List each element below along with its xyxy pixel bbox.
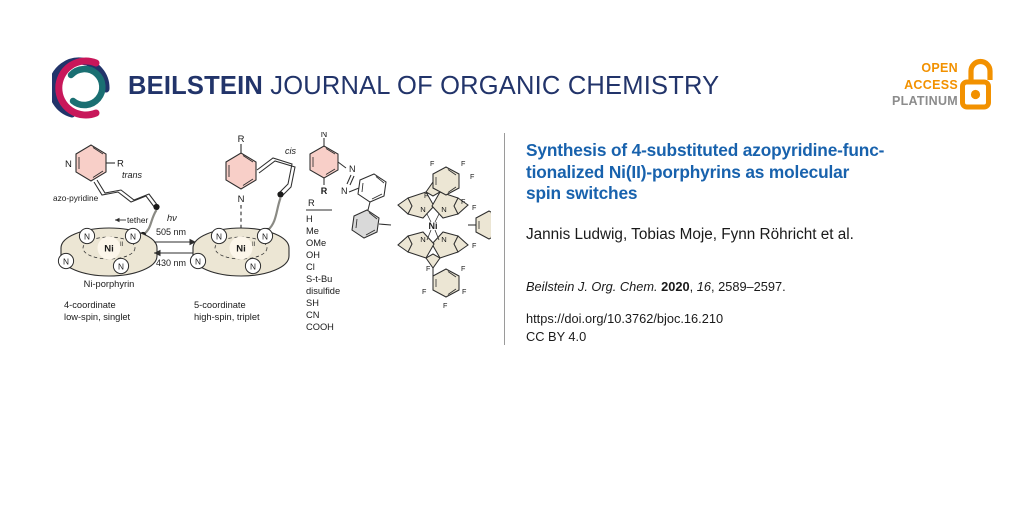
f-label-bottom-4: F	[462, 287, 467, 296]
journal-wordmark-light: JOURNAL OF ORGANIC CHEMISTRY	[263, 72, 719, 100]
porphyrin-n-1: N	[420, 205, 425, 214]
article-license: CC BY 4.0	[526, 328, 988, 346]
scheme-photoswitch-arrows: hν 505 nm 430 nm	[154, 213, 196, 268]
trans-caption-line-2: low-spin, singlet	[64, 312, 131, 322]
cis-caption-line-2: high-spin, triplet	[194, 312, 260, 322]
molecule-porphyrin-core: N N N N Ni	[398, 182, 468, 268]
trans-metal-charge: II	[120, 242, 124, 248]
graphical-abstract: N R trans azo-pyridine tether Ni II	[36, 132, 491, 347]
article-doi-link[interactable]: https://doi.org/10.3762/bjoc.16.210	[526, 310, 988, 328]
scheme-left-structure: N R trans azo-pyridine tether Ni II	[53, 145, 160, 322]
r-group-item-3: OMe	[306, 238, 326, 248]
molecule-pyridine-n-label: N	[321, 132, 328, 139]
cis-porphyrin-n-4: N	[250, 262, 256, 272]
r-group-item-6: S-t-Bu	[306, 274, 332, 284]
cis-ring-r-label: R	[238, 134, 245, 145]
f-label-top-1: F	[430, 159, 435, 168]
f-label-right-3: F	[472, 241, 477, 250]
r-group-item-1: H	[306, 214, 313, 224]
molecule-azo-linkage: N N	[338, 162, 359, 196]
article-citation: Beilstein J. Org. Chem. 2020, 16, 2589–2…	[526, 278, 988, 295]
reverse-wavelength-label: 430 nm	[156, 258, 186, 268]
journal-wordmark: BEILSTEIN JOURNAL OF ORGANIC CHEMISTRY	[128, 70, 719, 102]
cis-metal-label: Ni	[236, 244, 246, 255]
cis-caption-line-1: 5-coordinate	[194, 300, 246, 310]
r-group-item-8: SH	[306, 298, 319, 308]
f-label-top-4: F	[461, 197, 466, 206]
cis-porphyrin-n-2: N	[262, 232, 268, 242]
citation-volume: 16	[697, 279, 711, 294]
scheme-right-structure: R N cis Ni II N N N N	[190, 134, 296, 322]
journal-header: BEILSTEIN JOURNAL OF ORGANIC CHEMISTRY O…	[0, 0, 1024, 128]
trans-azo-chain: trans azo-pyridine	[53, 170, 160, 210]
f-label-bottom-5: F	[443, 301, 448, 310]
f-label-bottom-3: F	[422, 287, 427, 296]
trans-porphyrin-n-2: N	[130, 232, 136, 242]
trans-ring-n-label: N	[65, 159, 72, 170]
molecule-metal-label: Ni	[429, 221, 438, 231]
trans-ring-r-label: R	[117, 159, 124, 170]
trans-porphyrin-n-1: N	[84, 232, 90, 242]
article-title-line-3: spin switches	[526, 183, 637, 203]
porphyrin-n-4: N	[420, 235, 425, 244]
cis-pyridine-ring: R N	[226, 134, 256, 205]
journal-wordmark-bold: BEILSTEIN	[128, 72, 263, 100]
porphyrin-n-3: N	[441, 235, 446, 244]
molecule-phenyl-linker	[352, 174, 391, 238]
citation-year: 2020	[661, 279, 689, 294]
r-group-item-4: OH	[306, 250, 320, 260]
f-label-bottom-2: F	[461, 264, 466, 273]
trans-porphyrin-n-3: N	[63, 257, 69, 267]
cis-porphyrin-n-3: N	[195, 257, 201, 267]
tether-label: tether	[127, 215, 148, 225]
citation-pages: 2589–2597.	[718, 279, 786, 294]
trans-metal-label: Ni	[104, 244, 114, 255]
f-label-top-5: F	[424, 191, 429, 200]
r-group-item-10: COOH	[306, 322, 334, 332]
r-group-item-9: CN	[306, 310, 319, 320]
pentafluorophenyl-bottom: F F F F F	[422, 264, 467, 310]
trans-porphyrin-platform: Ni II N N N N	[58, 228, 157, 276]
molecule-pyridine-r-label: R	[321, 186, 328, 196]
cis-isomer-label: cis	[285, 146, 296, 156]
beilstein-swirl-logo-icon	[52, 56, 116, 120]
article-title-line-2: tionalized Ni(II)-porphyrins as molecula…	[526, 162, 849, 182]
full-molecule-structure: N R N N	[306, 132, 491, 332]
open-access-line-open: OPEN	[892, 60, 958, 77]
cis-metal-charge: II	[252, 242, 256, 248]
article-authors: Jannis Ludwig, Tobias Moje, Fynn Röhrich…	[526, 225, 988, 245]
r-group-table: R H Me OMe OH Cl S-t-Bu disulfide SH CN …	[306, 198, 340, 332]
trans-caption-line-1: 4-coordinate	[64, 300, 116, 310]
content-divider	[504, 133, 505, 345]
citation-journal: Beilstein J. Org. Chem.	[526, 279, 658, 294]
pentafluorophenyl-right: F F F F	[468, 203, 491, 250]
article-title: Synthesis of 4-substituted azopyridine-f…	[526, 140, 988, 205]
f-label-bottom-1: F	[426, 264, 431, 273]
f-label-top-3: F	[470, 172, 475, 181]
r-group-item-2: Me	[306, 226, 319, 236]
ni-porphyrin-caption: Ni-porphyrin	[84, 279, 135, 289]
cis-porphyrin-platform: Ni II N N N N	[190, 228, 289, 276]
molecule-azo-n2-label: N	[341, 186, 348, 196]
r-group-item-5: Cl	[306, 262, 315, 272]
open-access-line-access: ACCESS	[892, 77, 958, 94]
trans-isomer-label: trans	[122, 170, 143, 180]
forward-wavelength-label: 505 nm	[156, 227, 186, 237]
azo-pyridine-label: azo-pyridine	[53, 193, 99, 203]
cis-porphyrin-n-1: N	[216, 232, 222, 242]
article-title-line-1: Synthesis of 4-substituted azopyridine-f…	[526, 140, 884, 160]
cis-azo-chain: cis	[257, 146, 296, 234]
open-access-badge: OPEN ACCESS PLATINUM	[884, 58, 994, 118]
r-group-item-7: disulfide	[306, 286, 340, 296]
article-info-panel: Synthesis of 4-substituted azopyridine-f…	[526, 140, 988, 346]
f-label-top-2: F	[461, 159, 466, 168]
open-access-line-platinum: PLATINUM	[892, 93, 958, 110]
photon-label: hν	[167, 213, 177, 223]
r-group-table-header: R	[308, 198, 315, 208]
trans-porphyrin-n-4: N	[118, 262, 124, 272]
open-lock-icon	[960, 58, 994, 110]
cis-ring-n-label: N	[238, 194, 245, 205]
porphyrin-n-2: N	[441, 205, 446, 214]
trans-pyridine-ring: N R	[65, 145, 124, 181]
f-label-right-1: F	[472, 203, 477, 212]
molecule-azo-n1-label: N	[349, 164, 356, 174]
open-access-label: OPEN ACCESS PLATINUM	[892, 60, 958, 110]
molecule-pyridine-ring: N R	[310, 132, 338, 196]
